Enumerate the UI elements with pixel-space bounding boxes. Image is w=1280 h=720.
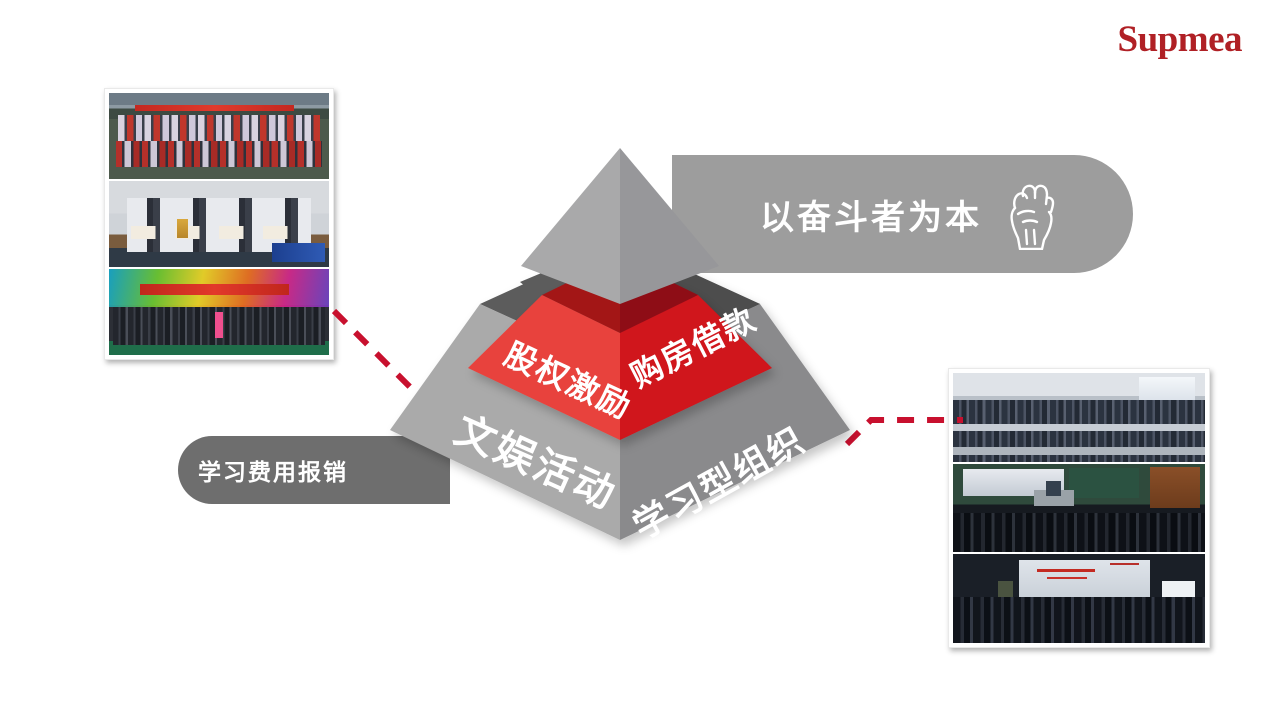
photo-speaker — [1046, 481, 1061, 495]
photo-desk-front — [953, 424, 1205, 430]
pyramid-diagram: 文娱活动 学习型组织 股权激励 购房借款 — [380, 140, 900, 570]
photo-chalkboard — [1069, 468, 1140, 498]
left-photo-collage[interactable] — [104, 88, 334, 360]
photo-auditorium-presentation — [953, 554, 1205, 643]
photo-desk-nearest — [953, 447, 1205, 454]
photo-audience — [953, 513, 1205, 552]
photo-event-banner — [140, 284, 290, 295]
photo-certificates — [131, 226, 307, 240]
photo-backdrop-banner — [272, 243, 325, 262]
photo-person-highlight — [215, 312, 224, 338]
right-photo-collage[interactable] — [948, 368, 1210, 648]
photo-audience — [953, 597, 1205, 643]
photo-people-row-back — [118, 115, 320, 141]
raised-fist-icon — [1004, 178, 1056, 250]
photo-slide-title — [1037, 569, 1095, 572]
photo-fitness-event-2020 — [109, 269, 329, 355]
photo-award-ceremony — [109, 181, 329, 267]
photo-people-row-front — [116, 141, 323, 167]
photo-trophy — [177, 219, 188, 238]
photo-door — [1150, 467, 1200, 508]
photo-slide-projection — [1019, 560, 1150, 597]
photo-banner-decor — [135, 105, 293, 111]
slide-canvas: Supmea — [0, 0, 1280, 720]
photo-slide-logo — [1110, 563, 1139, 566]
banner-left-label: 学习费用报销 — [198, 453, 348, 487]
photo-sports-team — [109, 93, 329, 179]
photo-lecture-hall — [953, 464, 1205, 553]
brand-logo: Supmea — [1118, 18, 1242, 61]
photo-slide-subtitle — [1047, 577, 1086, 580]
photo-training-room — [953, 373, 1205, 462]
